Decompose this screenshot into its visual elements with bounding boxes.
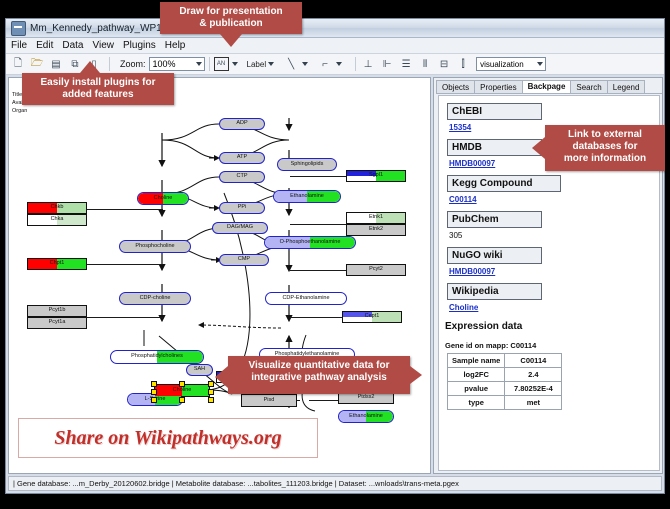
tab-search[interactable]: Search — [570, 80, 607, 94]
node-label: DAG/MAG — [227, 225, 253, 231]
node-etnk1[interactable]: Etnk1 — [346, 212, 406, 224]
callout-visualize-line2: integrative pathway analysis — [234, 372, 404, 384]
zoom-input[interactable]: 100% — [149, 57, 205, 71]
node-label: Sphingolipids — [291, 162, 324, 168]
node-ppi[interactable]: PPi — [219, 202, 265, 214]
node-cdp-ethanolamine[interactable]: CDP-Ethanolamine — [265, 292, 347, 305]
node-label: Sgpl1 — [369, 173, 383, 179]
node-sphingolipids[interactable]: Sphingolipids — [277, 158, 337, 171]
chevron-down-icon[interactable] — [336, 62, 342, 66]
chevron-down-icon[interactable] — [302, 62, 308, 66]
callout-draw-line2: & publication — [166, 18, 296, 30]
zoom-label: Zoom: — [120, 59, 146, 69]
callout-visualize-arrow — [215, 366, 228, 388]
node-dag-mag[interactable]: DAG/MAG — [212, 222, 268, 234]
table-cell-value: met — [505, 396, 562, 410]
table-row: type met — [448, 396, 562, 410]
chevron-down-icon[interactable] — [196, 62, 202, 66]
table-cell-label: Sample name — [448, 354, 505, 368]
pubchem-value: 305 — [449, 231, 659, 240]
node-label: Pcyt2 — [369, 267, 383, 273]
label-tool[interactable]: Label — [247, 60, 280, 69]
connector-tool[interactable]: ⌐ — [317, 56, 347, 72]
callout-links-arrow — [532, 137, 545, 159]
callout-links: Link to external databases for more info… — [545, 125, 665, 171]
callout-visualize-arrow-right — [410, 366, 422, 384]
table-row: pvalue 7.80252E-4 — [448, 382, 562, 396]
menu-item-file[interactable]: File — [11, 40, 27, 51]
node-label: CDP-Ethanolamine — [282, 296, 329, 302]
node-label: Phosphatidylcholines — [131, 354, 183, 360]
section-header-pubchem: PubChem — [447, 211, 542, 228]
node-label: PPi — [238, 205, 247, 211]
open-folder-icon[interactable]: 🗁 — [29, 56, 45, 72]
node-pcyt1a[interactable]: Pcyt1a — [27, 317, 87, 329]
table-cell-value: 7.80252E-4 — [505, 382, 562, 396]
datanode-icon[interactable]: AN — [214, 57, 229, 71]
toolbar-separator-2 — [209, 57, 210, 71]
selection-handle-e[interactable] — [208, 389, 214, 395]
node-label: Chpt1 — [50, 261, 65, 267]
node-chka[interactable]: Chka — [27, 214, 87, 226]
canvas-info-organism: Organ — [12, 108, 27, 114]
menu-item-view[interactable]: View — [92, 40, 114, 51]
callout-plugins: Easily install plugins for added feature… — [22, 73, 174, 105]
node-etnk2[interactable]: Etnk2 — [346, 224, 406, 236]
menu-item-help[interactable]: Help — [165, 40, 186, 51]
selection-handle-s[interactable] — [179, 397, 185, 403]
side-panel-tabs: Objects Properties Backpage Search Legen… — [436, 80, 644, 94]
node-o-phosphoethanolamine[interactable]: O-Phosphoethanolamine — [264, 236, 356, 249]
selection-handle-se[interactable] — [208, 397, 214, 403]
edge-pcyt2-to-ophospho — [290, 270, 346, 271]
tab-underline — [436, 93, 662, 94]
screenshot-root: Mm_Kennedy_pathway_WP1771_45176.gpml Fil… — [0, 0, 670, 509]
section-header-wikipedia: Wikipedia — [447, 283, 542, 300]
node-label: Ptdss2 — [358, 395, 375, 401]
node-ethanolamine-bottom[interactable]: Ethanolamine — [338, 410, 394, 423]
edge-chpt1-to-phosphocholine — [87, 264, 163, 265]
edge-pcyt-to-cdpcholine — [87, 317, 163, 318]
selection-handle-ne[interactable] — [208, 381, 214, 387]
node-label: Ethanolamine — [349, 414, 383, 420]
node-label: ADP — [236, 121, 247, 127]
save-icon[interactable]: ▤ — [48, 56, 64, 72]
node-label: Cept1 — [365, 314, 380, 320]
connector-icon[interactable]: ⌐ — [317, 56, 333, 72]
chevron-down-icon[interactable] — [232, 62, 238, 66]
toolbar-separator-3 — [355, 57, 356, 71]
node-sgpl1[interactable]: Sgpl1 — [346, 170, 406, 182]
distribute-icon[interactable]: ⦀ — [417, 56, 433, 72]
menu-item-edit[interactable]: Edit — [36, 40, 53, 51]
node-label: SAH — [194, 367, 205, 373]
node-label: Pcyt1a — [49, 320, 66, 326]
table-cell-label: pvalue — [448, 382, 505, 396]
tab-legend[interactable]: Legend — [607, 80, 646, 94]
gene-id-line: Gene id on mapp: C00114 — [445, 341, 659, 350]
callout-draw-line1: Draw for presentation — [166, 6, 296, 18]
node-chkb[interactable]: Chkb — [27, 202, 87, 214]
nugo-link[interactable]: HMDB00097 — [449, 267, 659, 276]
node-sah[interactable]: SAH — [186, 364, 213, 376]
table-row: log2FC 2.4 — [448, 368, 562, 382]
node-label: Pcyt1b — [49, 308, 66, 314]
callout-share: Share on Wikipathways.org — [18, 418, 318, 458]
table-cell-value: 2.4 — [505, 368, 562, 382]
selection-handle-n[interactable] — [179, 381, 185, 387]
menu-bar: File Edit Data View Plugins Help — [6, 38, 664, 54]
node-chpt1[interactable]: Chpt1 — [27, 258, 87, 270]
selection-handle-nw[interactable] — [151, 381, 157, 387]
node-phosphatidylcholines[interactable]: Phosphatidylcholines — [110, 350, 204, 364]
visualization-select[interactable]: visualization — [476, 57, 546, 71]
toolbar-separator-1 — [109, 57, 110, 71]
section-header-kegg: Kegg Compound — [447, 175, 561, 192]
node-label: Etnk1 — [369, 215, 383, 221]
expression-data-title: Expression data — [445, 321, 659, 332]
callout-visualize: Visualize quantitative data for integrat… — [228, 356, 410, 394]
callout-plugins-arrow — [80, 61, 100, 73]
node-cdp-choline[interactable]: CDP-choline — [119, 292, 191, 305]
node-pcyt2[interactable]: Pcyt2 — [346, 264, 406, 276]
node-phosphocholine[interactable]: Phosphocholine — [119, 240, 191, 253]
node-label: Phosphocholine — [135, 244, 174, 250]
tab-objects[interactable]: Objects — [436, 80, 475, 94]
align-bottom-icon[interactable]: ⊥ — [360, 56, 376, 72]
edge-sgpl1-to-sphingolipids — [290, 176, 346, 177]
expression-table: Sample name C00114 log2FC 2.4 pvalue 7.8… — [447, 353, 562, 410]
callout-links-line1: Link to external — [551, 129, 659, 141]
node-label: CTP — [237, 174, 248, 180]
edge-chk-to-choline — [87, 209, 163, 210]
node-choline-top[interactable]: Choline — [137, 192, 189, 205]
datanode-tool[interactable]: AN — [214, 57, 243, 71]
label-tool-label: Label — [247, 60, 267, 69]
selection-handle-w[interactable] — [151, 389, 157, 395]
section-header-chebi: ChEBI — [447, 103, 542, 120]
chevron-down-icon[interactable] — [537, 62, 543, 66]
callout-links-line3: more information — [551, 153, 659, 165]
title-bar: Mm_Kennedy_pathway_WP1771_45176.gpml — [6, 19, 664, 38]
callout-draw: Draw for presentation & publication — [160, 2, 302, 34]
align-left-icon[interactable]: ⊩ — [379, 56, 395, 72]
table-cell-label: type — [448, 396, 505, 410]
callout-visualize-line1: Visualize quantitative data for — [234, 360, 404, 372]
node-label: CDP-choline — [140, 296, 171, 302]
status-bar-text: | Gene database: ...m_Derby_20120602.bri… — [9, 479, 459, 488]
zoom-value: 100% — [153, 59, 176, 69]
pathway-canvas[interactable]: Title: Availa Organ — [8, 77, 431, 474]
node-cept1[interactable]: Cept1 — [342, 311, 402, 323]
node-label: Chkb — [51, 205, 64, 211]
wikipedia-link[interactable]: Choline — [449, 303, 659, 312]
node-cmp[interactable]: CMP — [219, 254, 269, 266]
table-row: Sample name C00114 — [448, 354, 562, 368]
app-icon — [11, 21, 26, 36]
share-text: Share on Wikipathways.org — [54, 427, 281, 450]
line-tool[interactable]: ╲ — [283, 56, 313, 72]
node-adp[interactable]: ADP — [219, 118, 265, 130]
tab-backpage[interactable]: Backpage — [522, 80, 572, 94]
node-pisd[interactable]: Pisd — [241, 394, 297, 407]
order-icon[interactable]: ⫿ — [455, 56, 471, 72]
selection-handle-sw[interactable] — [151, 397, 157, 403]
line-icon[interactable]: ╲ — [283, 56, 299, 72]
node-label: ATP — [237, 155, 247, 161]
node-label: Choline — [173, 388, 192, 394]
node-label: Chka — [51, 217, 64, 223]
visualization-value: visualization — [480, 60, 524, 69]
status-bar: | Gene database: ...m_Derby_20120602.bri… — [8, 476, 662, 491]
toolbar: 🗋 🗁 ▤ ⧉ ▯ Zoom: 100% AN Label ╲ — [6, 54, 664, 75]
node-ctp[interactable]: CTP — [219, 171, 265, 183]
tab-properties[interactable]: Properties — [474, 80, 522, 94]
callout-links-line2: databases for — [551, 141, 659, 153]
edge-cept1-to-cdpetn — [290, 317, 342, 318]
node-pcyt1b[interactable]: Pcyt1b — [27, 305, 87, 317]
node-atp[interactable]: ATP — [219, 152, 265, 164]
menu-item-data[interactable]: Data — [62, 40, 83, 51]
kegg-link[interactable]: C00114 — [449, 195, 659, 204]
callout-plugins-line1: Easily install plugins for — [28, 77, 168, 89]
table-cell-value: C00114 — [505, 354, 562, 368]
menu-item-plugins[interactable]: Plugins — [123, 40, 156, 51]
node-label: CMP — [238, 257, 250, 263]
node-label: Etnk2 — [369, 227, 383, 233]
node-label: Choline — [154, 196, 173, 202]
node-label: O-Phosphoethanolamine — [280, 240, 341, 246]
callout-plugins-line2: added features — [28, 89, 168, 101]
section-header-hmdb: HMDB — [447, 139, 542, 156]
callout-draw-arrow — [220, 34, 242, 47]
node-ethanolamine-top[interactable]: Ethanolamine — [273, 190, 341, 203]
group-icon[interactable]: ⊟ — [436, 56, 452, 72]
section-header-nugo: NuGO wiki — [447, 247, 542, 264]
edge-etnk-to-ethanolamine — [290, 224, 346, 225]
node-label: Pisd — [264, 398, 275, 404]
new-file-icon[interactable]: 🗋 — [10, 56, 26, 72]
table-cell-label: log2FC — [448, 368, 505, 382]
chevron-down-icon[interactable] — [268, 62, 274, 66]
stack-icon[interactable]: ☰ — [398, 56, 414, 72]
node-label: Ethanolamine — [290, 194, 324, 200]
